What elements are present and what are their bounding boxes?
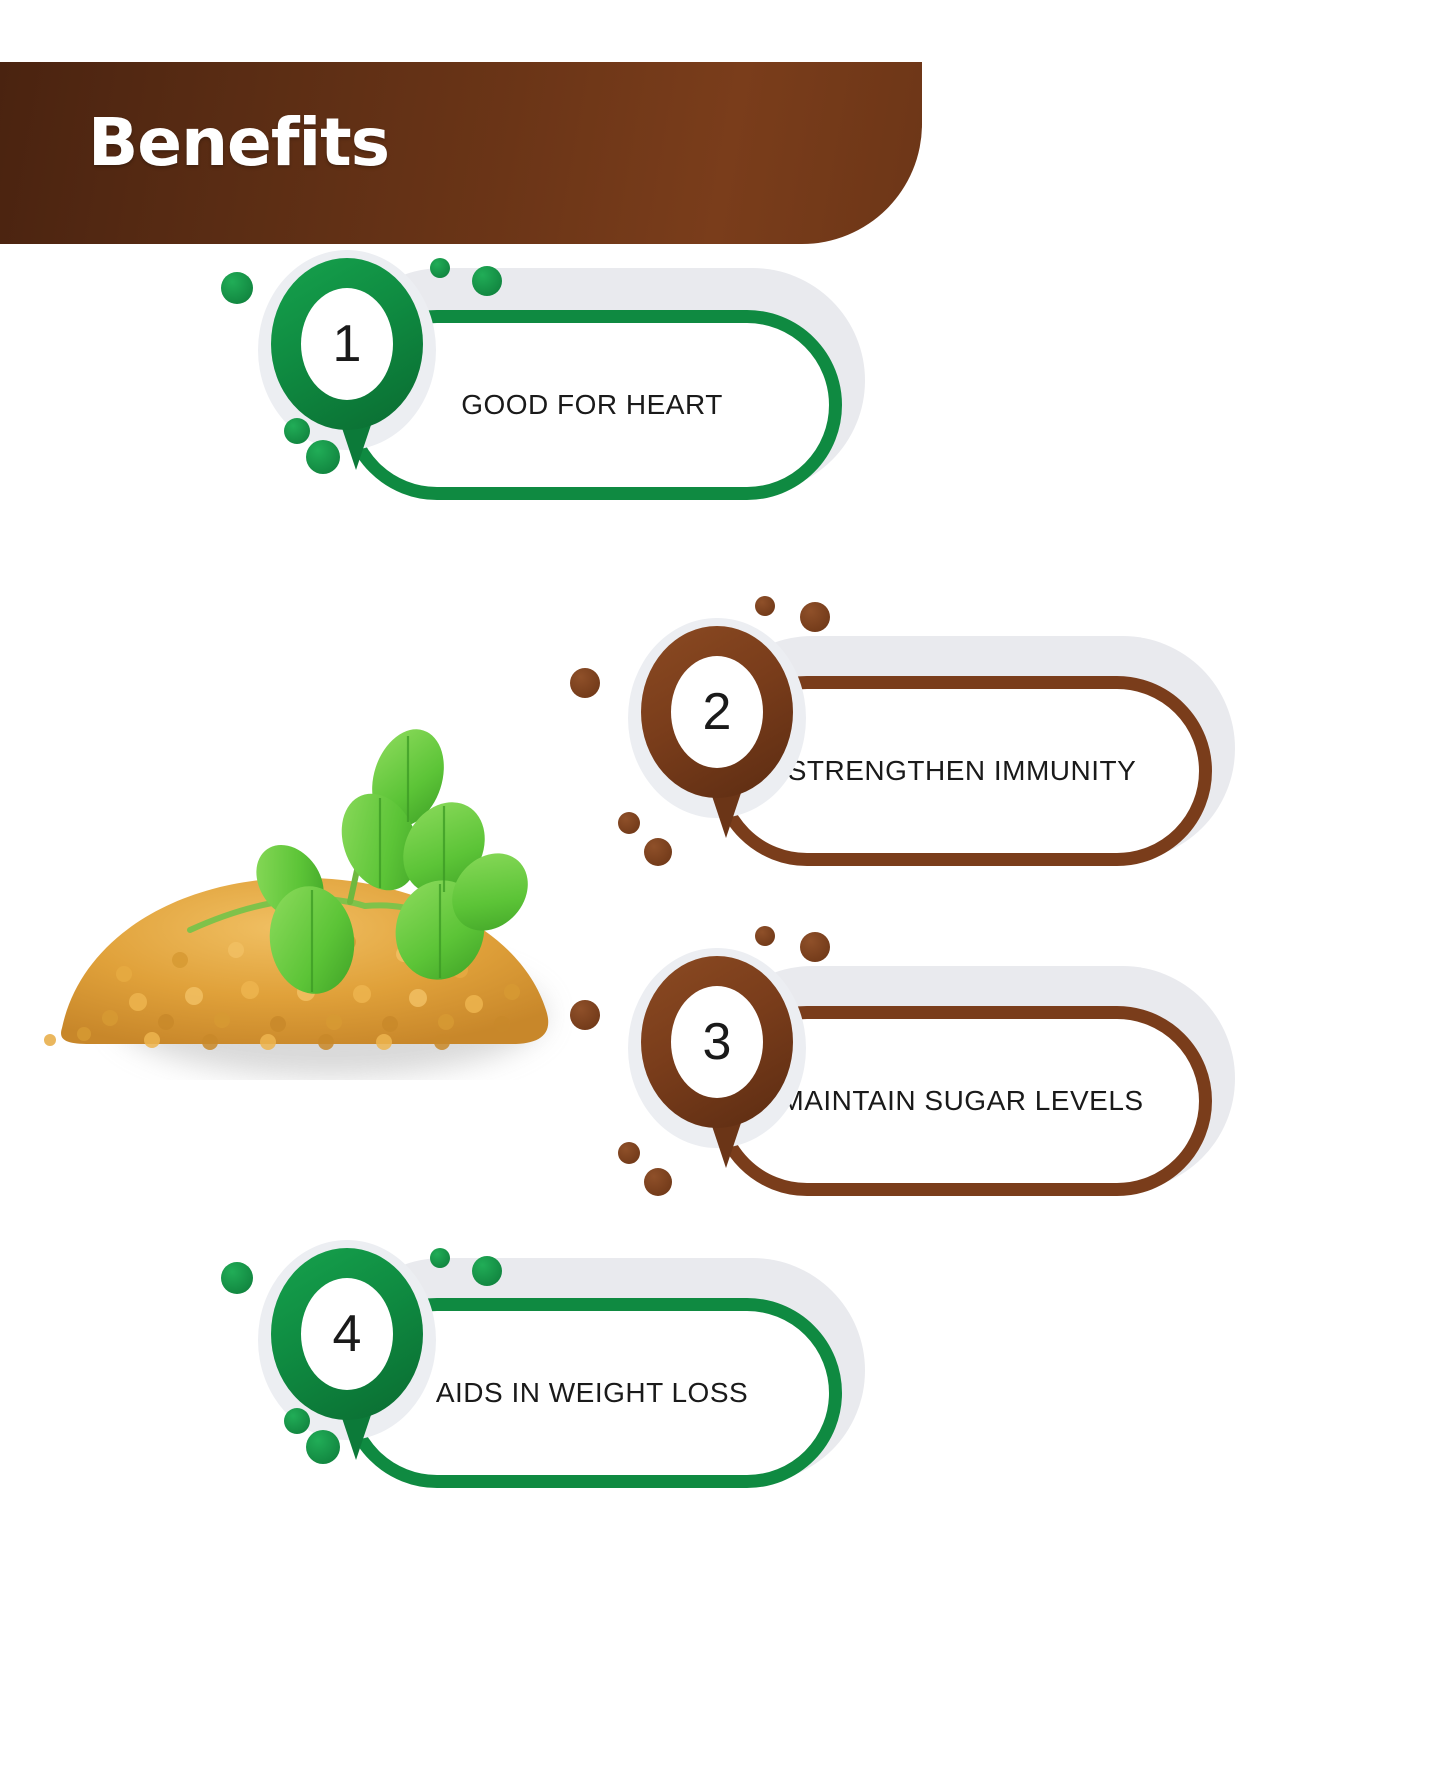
decor-dot xyxy=(306,1430,340,1464)
decor-dot xyxy=(284,418,310,444)
benefit-label-3: MAINTAIN SUGAR LEVELS xyxy=(780,1085,1143,1117)
header-banner: Benefits xyxy=(0,62,922,244)
benefit-number-2: 2 xyxy=(703,686,732,738)
decor-dot xyxy=(221,272,253,304)
decor-dot xyxy=(618,1142,640,1164)
decor-dot xyxy=(644,838,672,866)
pin-inner-2: 2 xyxy=(671,656,763,768)
pin-ring-3: 3 xyxy=(641,956,793,1128)
page-title: Benefits xyxy=(88,104,389,181)
decor-dot xyxy=(284,1408,310,1434)
decor-dot xyxy=(472,1256,502,1286)
pin-inner-4: 4 xyxy=(301,1278,393,1390)
pin-ring-2: 2 xyxy=(641,626,793,798)
pin-inner-3: 3 xyxy=(671,986,763,1098)
decor-dot xyxy=(570,668,600,698)
decor-dot xyxy=(644,1168,672,1196)
benefit-number-1: 1 xyxy=(333,318,362,370)
fenugreek-seed-pile-illustration xyxy=(20,630,600,1080)
decor-dot xyxy=(306,440,340,474)
benefit-label-2: STRENGTHEN IMMUNITY xyxy=(788,755,1137,787)
decor-dot xyxy=(221,1262,253,1294)
benefit-label-1: GOOD FOR HEART xyxy=(461,389,723,421)
decor-dot xyxy=(755,926,775,946)
decor-dot xyxy=(800,602,830,632)
infographic-canvas: Benefits xyxy=(0,0,1445,1765)
decor-dot xyxy=(570,1000,600,1030)
decor-dot xyxy=(430,258,450,278)
decor-dot xyxy=(430,1248,450,1268)
pin-inner-1: 1 xyxy=(301,288,393,400)
benefit-number-3: 3 xyxy=(703,1016,732,1068)
decor-dot xyxy=(800,932,830,962)
decor-dot xyxy=(755,596,775,616)
decor-dot xyxy=(618,812,640,834)
pin-ring-4: 4 xyxy=(271,1248,423,1420)
benefit-label-4: AIDS IN WEIGHT LOSS xyxy=(436,1377,748,1409)
decor-dot xyxy=(472,266,502,296)
pin-ring-1: 1 xyxy=(271,258,423,430)
benefit-number-4: 4 xyxy=(333,1308,362,1360)
